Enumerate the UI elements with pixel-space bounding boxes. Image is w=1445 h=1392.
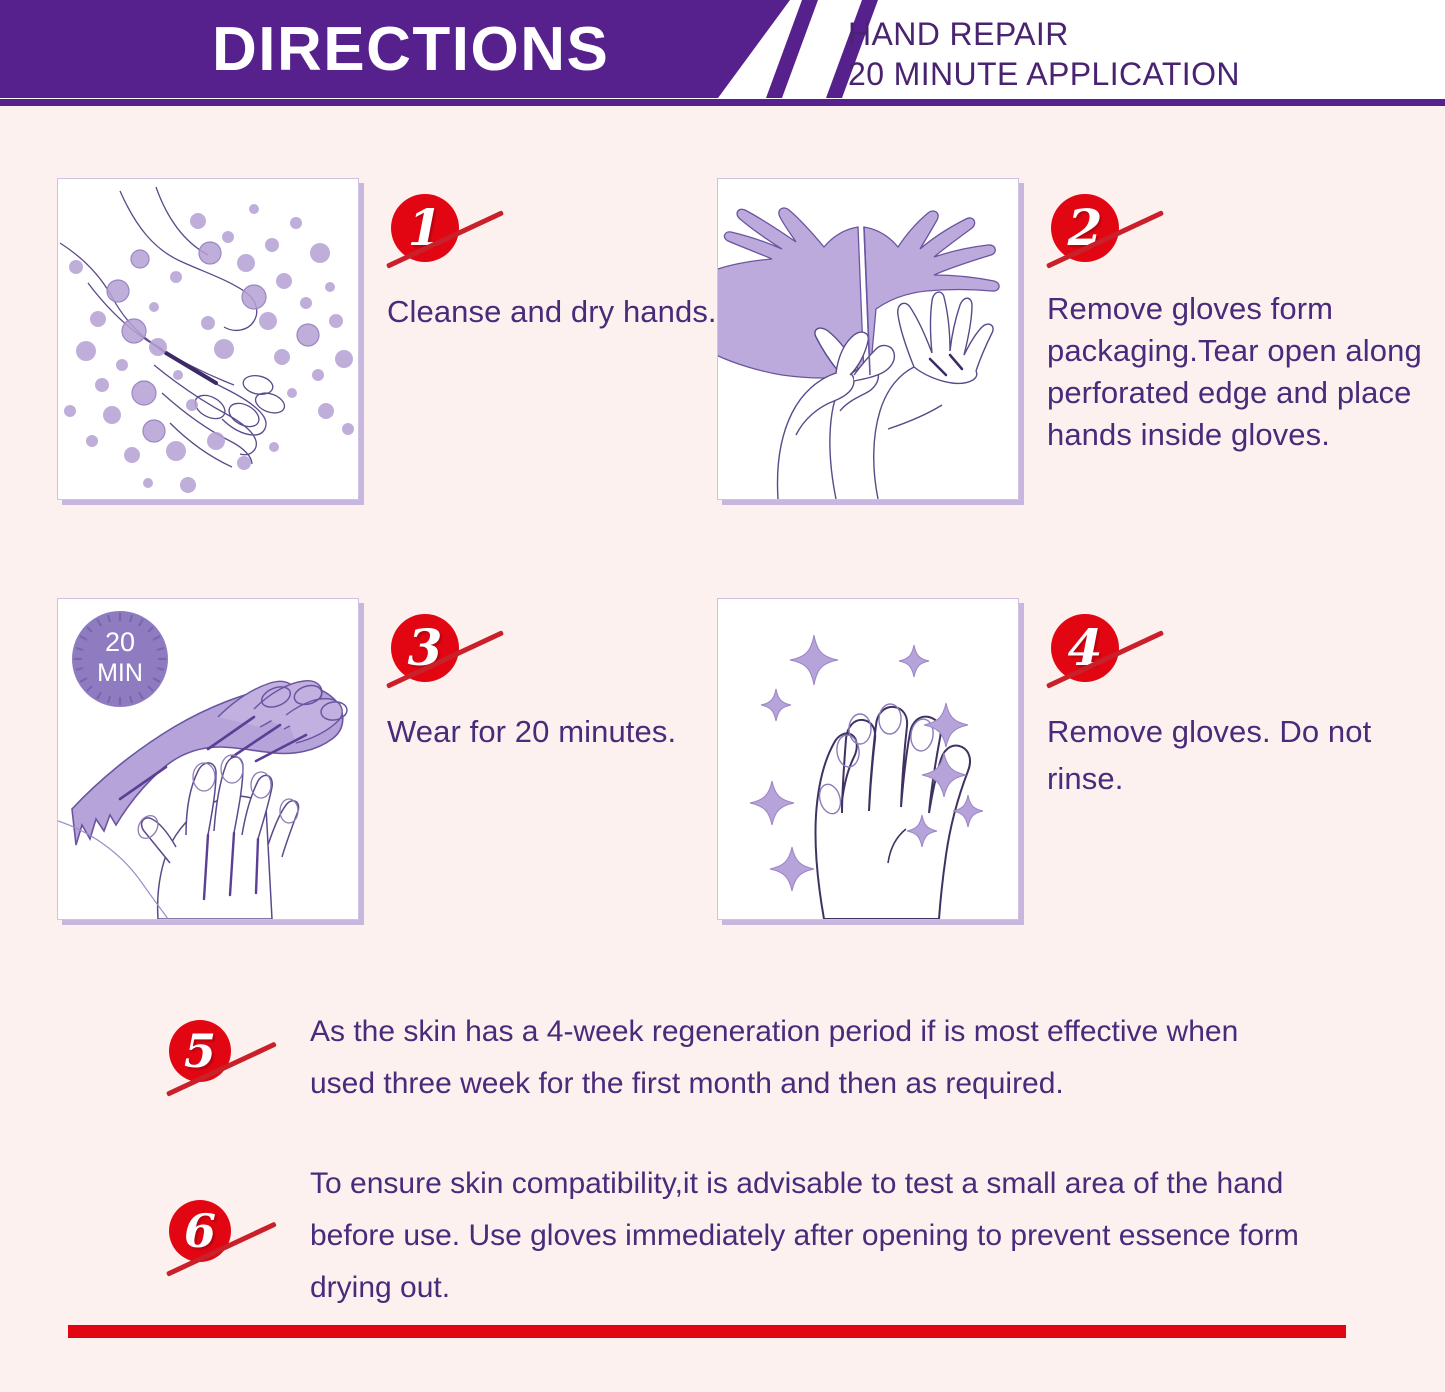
step-2-illustration-card [717, 178, 1019, 500]
step-4-illustration-card [717, 598, 1019, 920]
hands-with-soap-bubbles-icon [58, 179, 358, 499]
step-3-badge: 3 [387, 612, 647, 708]
step-number-badge: 6 [169, 1200, 231, 1262]
page-title: DIRECTIONS [212, 8, 692, 90]
step-1-illustration-card [57, 178, 359, 500]
timer-unit: MIN [97, 659, 143, 687]
step-4-description: Remove gloves. Do not rinse. [1047, 708, 1437, 802]
step-4-text-block: 4 Remove gloves. Do not rinse. [1047, 612, 1437, 802]
step-number-badge: 5 [169, 1020, 231, 1082]
steps-grid: 1 Cleanse and dry hands. [0, 106, 1445, 966]
timer-value: 20 [105, 627, 135, 657]
header-underline [0, 99, 1445, 106]
notes-section: 5 As the skin has a 4-week regeneration … [0, 966, 1445, 1316]
header-subtitle-line-2: 20 MINUTE APPLICATION [848, 54, 1408, 94]
gloved-hand-with-timer-icon: 20 MIN [58, 599, 358, 919]
page-header: DIRECTIONS HAND REPAIR 20 MINUTE APPLICA… [0, 0, 1445, 106]
step-number-badge: 3 [391, 614, 459, 682]
header-subtitle-line-1: HAND REPAIR [848, 14, 1408, 54]
timer-badge-icon: 20 MIN [72, 611, 168, 707]
footer-rule [68, 1325, 1346, 1338]
step-2-badge: 2 [1047, 192, 1307, 288]
note-6-badge: 6 [165, 1158, 295, 1268]
note-5-description: As the skin has a 4-week regeneration pe… [310, 1006, 1310, 1110]
step-1-badge: 1 [387, 192, 647, 288]
note-6-description: To ensure skin compatibility,it is advis… [310, 1158, 1310, 1314]
step-number-badge: 2 [1051, 194, 1119, 262]
step-2-description: Remove gloves form packaging.Tear open a… [1047, 288, 1445, 456]
step-3-illustration-card: 20 MIN [57, 598, 359, 920]
header-subtitle: HAND REPAIR 20 MINUTE APPLICATION [848, 14, 1408, 94]
step-number-badge: 1 [391, 194, 459, 262]
step-4-badge: 4 [1047, 612, 1307, 708]
step-2-text-block: 2 Remove gloves form packaging.Tear open… [1047, 192, 1445, 456]
sparkling-clean-hand-icon [718, 599, 1018, 919]
step-number-badge: 4 [1051, 614, 1119, 682]
hands-opening-glove-packaging-icon [718, 179, 1018, 499]
note-5-badge: 5 [165, 1006, 295, 1116]
